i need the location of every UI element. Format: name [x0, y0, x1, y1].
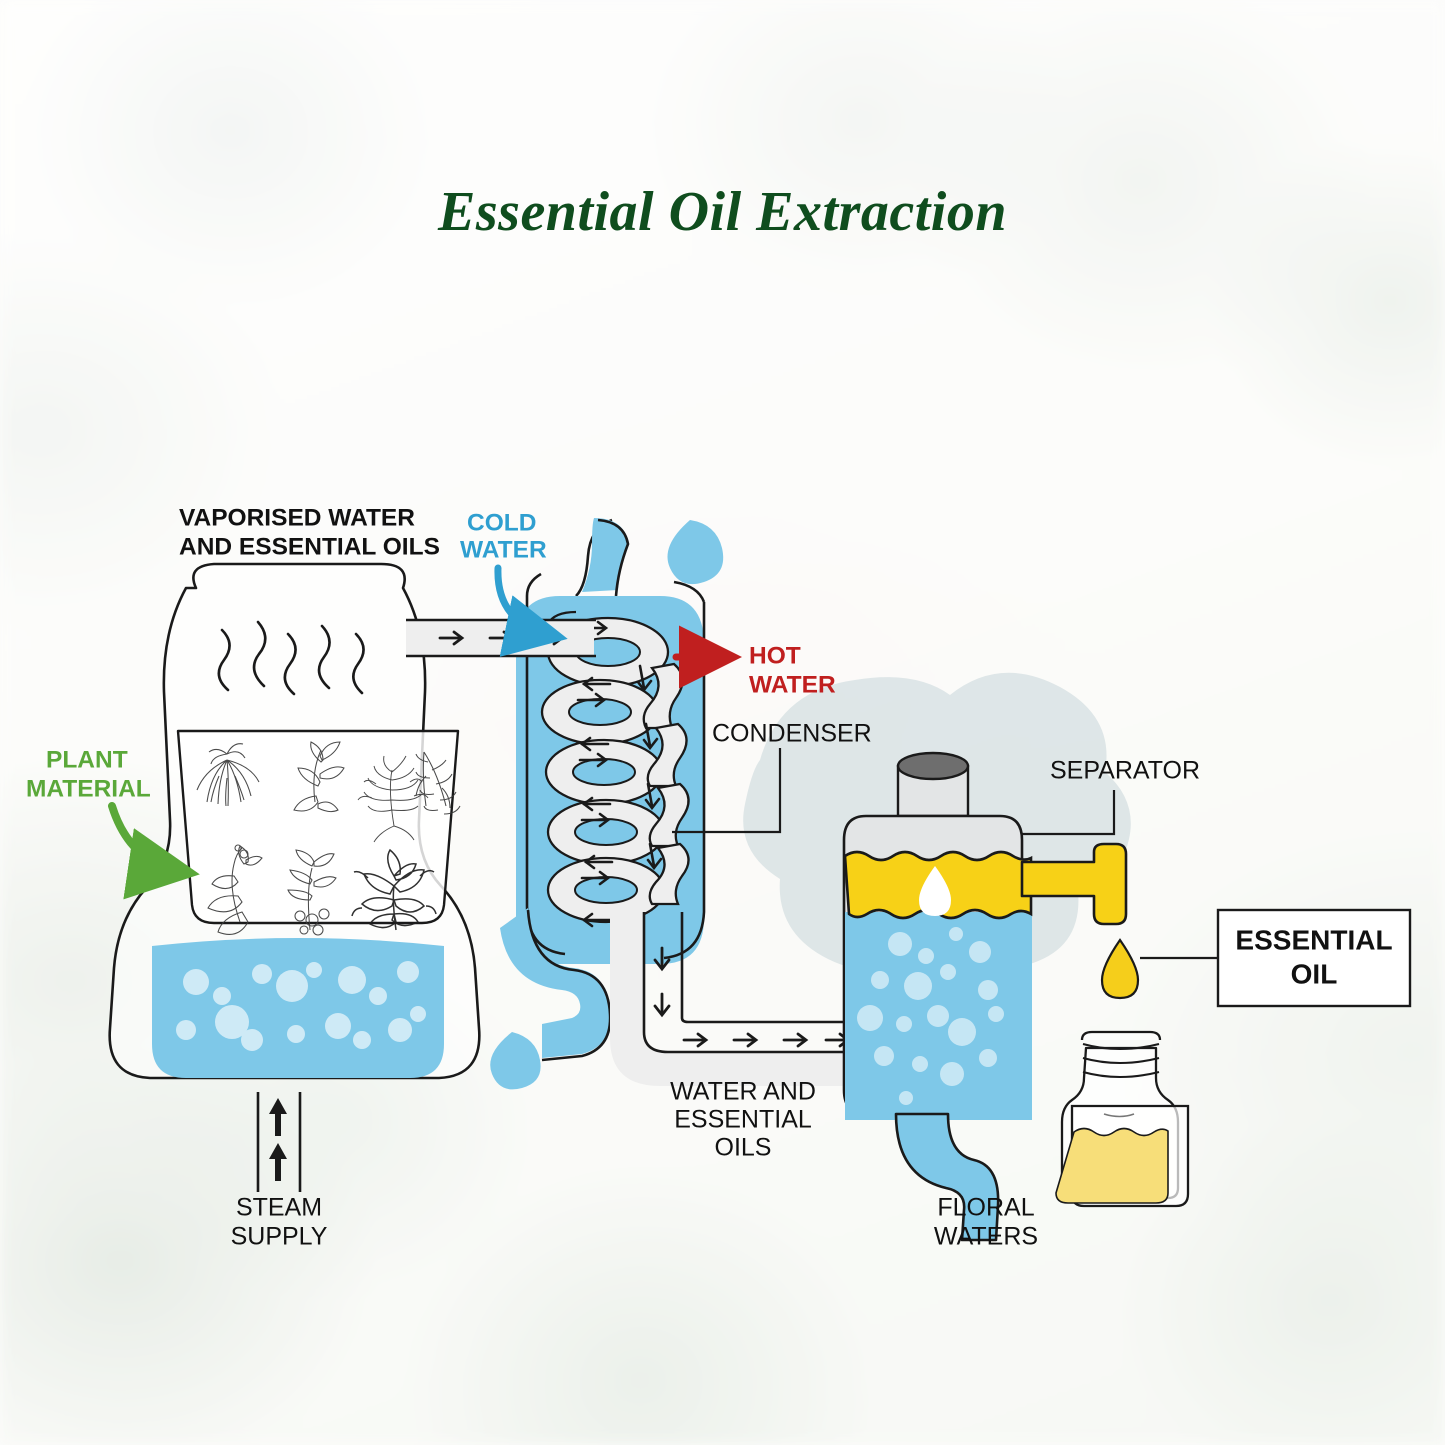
bottle-oil-fill — [1056, 1129, 1168, 1204]
label-vaporised-water: VAPORISED WATER AND ESSENTIAL OILS — [179, 504, 440, 560]
label-separator: SEPARATOR — [1050, 757, 1200, 785]
essential-oil-bottle-group — [1056, 940, 1188, 1206]
cold-water-line-2: WATER — [460, 536, 547, 563]
essential-oil-line-1: ESSENTIAL — [1235, 924, 1392, 955]
distillation-still — [110, 564, 480, 1192]
label-hot-water: HOT WATER — [749, 642, 836, 698]
floral-waters-line-2: WATERS — [934, 1223, 1038, 1251]
still-water — [152, 938, 444, 1078]
hot-water-line-1: HOT — [749, 642, 801, 669]
oil-drop — [1102, 940, 1138, 998]
essential-oil-callout: ESSENTIAL OIL — [1218, 910, 1410, 1006]
floral-waters-line-1: FLORAL — [937, 1194, 1034, 1222]
label-condenser: CONDENSER — [712, 720, 872, 748]
label-floral-waters: FLORAL WATERS — [934, 1194, 1038, 1251]
label-cold-water: COLD WATER — [460, 509, 547, 563]
steam-supply-line-1: STEAM — [236, 1194, 322, 1222]
plant-material-basket — [178, 731, 460, 935]
essential-oil-line-2: OIL — [1291, 958, 1338, 989]
separator-water — [845, 912, 1032, 1122]
water-oils-line-1: WATER AND — [670, 1078, 816, 1106]
steam-arrows — [269, 1098, 287, 1181]
steam-supply-line-2: SUPPLY — [231, 1223, 328, 1251]
hot-water-line-2: WATER — [749, 671, 836, 698]
outlet-arrows — [655, 948, 848, 1046]
water-oils-line-2: ESSENTIAL — [674, 1106, 812, 1134]
vaporised-line-2: AND ESSENTIAL OILS — [179, 533, 440, 560]
vaporised-line-1: VAPORISED WATER — [179, 504, 415, 531]
label-plant-material: PLANT MATERIAL — [26, 746, 151, 802]
extraction-diagram: VAPORISED WATER AND ESSENTIAL OILS COLD … — [0, 0, 1445, 1445]
cold-water-line-1: COLD — [467, 509, 536, 536]
separator-cap — [898, 753, 968, 779]
water-oils-line-3: OILS — [715, 1134, 772, 1162]
plant-material-line-1: PLANT — [46, 746, 128, 773]
plant-material-line-2: MATERIAL — [26, 775, 151, 802]
label-steam-supply: STEAM SUPPLY — [231, 1194, 328, 1251]
diagram-canvas: Essential Oil Extraction — [0, 0, 1445, 1445]
vapour-pipe — [406, 620, 596, 656]
steam-supply-pipe — [258, 1092, 300, 1192]
label-water-and-oils: WATER AND ESSENTIAL OILS — [670, 1078, 816, 1162]
